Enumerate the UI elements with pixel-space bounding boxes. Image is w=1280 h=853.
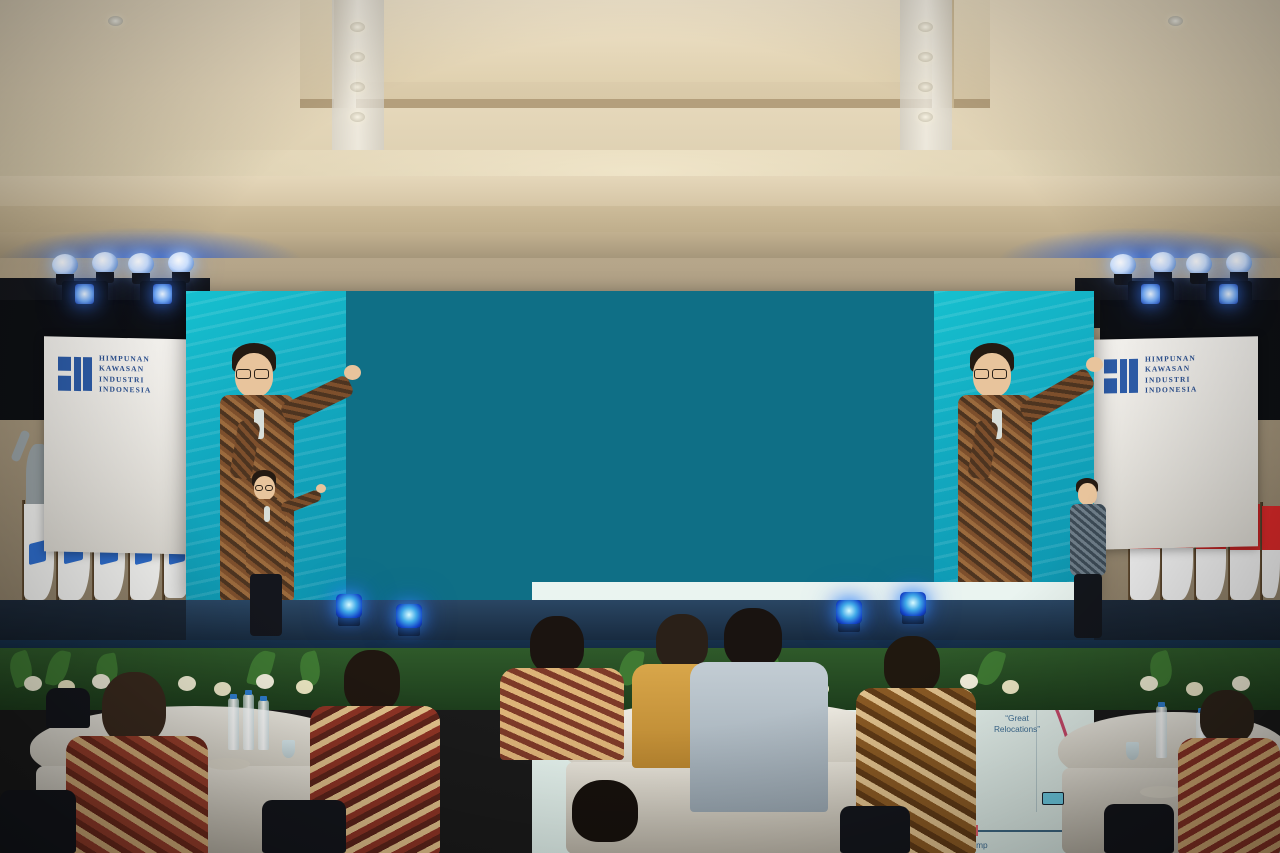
wash-light xyxy=(1206,281,1252,307)
par-light xyxy=(52,254,78,278)
ceiling-light-strip-left xyxy=(332,0,384,150)
par-light xyxy=(1186,253,1212,277)
banner-org-name: HIMPUNAN KAWASAN INDUSTRI INDONESIA xyxy=(1145,354,1197,396)
water-bottle xyxy=(243,694,254,750)
par-light xyxy=(92,252,118,276)
hki-logo: HIMPUNAN KAWASAN INDUSTRI INDONESIA xyxy=(58,353,151,396)
presenter-on-stage xyxy=(236,470,326,640)
par-light xyxy=(168,252,194,276)
ceiling-cove-1 xyxy=(0,176,1280,206)
ballroom-ceiling xyxy=(0,0,1280,250)
saucer xyxy=(206,758,250,770)
audience-member xyxy=(536,780,676,853)
smartphone[interactable] xyxy=(1042,792,1064,805)
moving-head-light xyxy=(396,602,422,636)
saucer xyxy=(1140,786,1182,798)
chair xyxy=(46,688,90,728)
conference-scene: HIMPUNAN KAWASAN INDUSTRI INDONESIA HIMP… xyxy=(0,0,1280,853)
par-light xyxy=(128,253,154,277)
banner-org-name: HIMPUNAN KAWASAN INDUSTRI INDONESIA xyxy=(99,353,151,395)
moving-head-light xyxy=(836,598,862,632)
drinking-glass xyxy=(282,740,295,758)
chair xyxy=(0,790,76,853)
drinking-glass xyxy=(1126,742,1139,760)
wash-light xyxy=(140,281,186,307)
moving-head-light xyxy=(900,590,926,624)
hki-logo-mark xyxy=(1104,358,1138,393)
water-bottle xyxy=(1156,706,1167,758)
chair xyxy=(840,806,910,853)
moving-head-light xyxy=(336,592,362,626)
chair xyxy=(1104,804,1174,853)
audience-member xyxy=(690,608,830,810)
audience-member xyxy=(1178,690,1280,853)
stage-host xyxy=(1064,478,1124,640)
chair xyxy=(262,800,346,853)
hki-logo-mark xyxy=(58,356,92,391)
ceiling-coffer-inner xyxy=(356,0,932,82)
water-bottle xyxy=(228,698,239,750)
par-light xyxy=(1150,252,1176,276)
banner-left: HIMPUNAN KAWASAN INDUSTRI INDONESIA xyxy=(44,336,206,554)
par-light xyxy=(1110,254,1136,278)
audience-member xyxy=(500,616,626,756)
hki-logo: HIMPUNAN KAWASAN INDUSTRI INDONESIA xyxy=(1104,354,1197,397)
water-bottle xyxy=(258,700,269,750)
par-light xyxy=(1226,252,1252,276)
wash-light xyxy=(1128,281,1174,307)
ceiling-light-strip-right xyxy=(900,0,952,150)
wash-light xyxy=(62,281,108,307)
